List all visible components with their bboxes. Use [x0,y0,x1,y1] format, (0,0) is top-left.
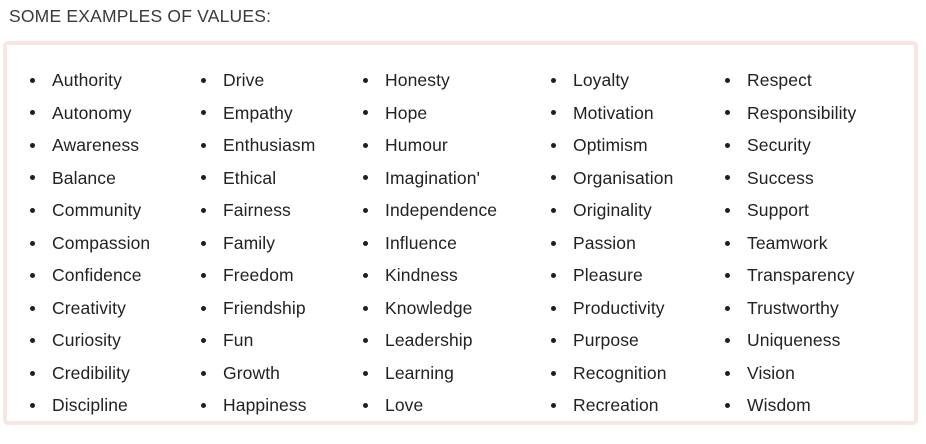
bullet-dot-icon [725,110,730,115]
list-item: Enthusiasm [201,129,363,162]
bullet-dot-icon [201,241,206,246]
list-item: Independence [363,194,551,227]
list-item: Ethical [201,162,363,195]
list-item: Autonomy [30,97,201,130]
list-item: Teamwork [725,227,915,260]
values-list: AuthorityAutonomyAwarenessBalanceCommuni… [30,45,201,422]
list-item: Organisation [551,162,725,195]
bullet-dot-icon [363,306,368,311]
bullet-dot-icon [725,175,730,180]
list-item: Security [725,129,915,162]
list-item-label: Enthusiasm [223,129,315,162]
list-item: Productivity [551,292,725,325]
list-item-label: Passion [573,227,636,260]
bullet-dot-icon [201,175,206,180]
list-item-label: Empathy [223,97,293,130]
list-item-label: Wisdom [747,389,811,422]
list-item: Pleasure [551,259,725,292]
bullet-dot-icon [30,175,35,180]
list-item-label: Knowledge [385,292,473,325]
bullet-dot-icon [201,403,206,408]
list-item: Motivation [551,97,725,130]
list-item: Responsibility [725,97,915,130]
list-item-label: Balance [52,162,116,195]
bullet-dot-icon [725,208,730,213]
list-item: Recreation [551,389,725,422]
list-item-label: Recognition [573,357,667,390]
list-item-label: Confidence [52,259,142,292]
bullet-dot-icon [551,110,556,115]
bullet-dot-icon [30,403,35,408]
bullet-dot-icon [30,110,35,115]
bullet-dot-icon [725,306,730,311]
bullet-dot-icon [551,78,556,83]
values-list: HonestyHopeHumourImagination'Independenc… [363,45,551,422]
list-item-label: Security [747,129,811,162]
bullet-dot-icon [363,403,368,408]
list-item-label: Vision [747,357,795,390]
list-item: Hope [363,97,551,130]
list-item-label: Loyalty [573,64,629,97]
list-item: Curiosity [30,324,201,357]
list-item: Discipline [30,389,201,422]
bullet-dot-icon [30,273,35,278]
list-item-label: Autonomy [52,97,132,130]
list-item-label: Discipline [52,389,128,422]
list-item: Leadership [363,324,551,357]
bullet-dot-icon [551,403,556,408]
list-item-label: Happiness [223,389,307,422]
list-item-label: Motivation [573,97,654,130]
list-item-label: Success [747,162,814,195]
list-item-label: Pleasure [573,259,643,292]
bullet-dot-icon [201,338,206,343]
list-item: Friendship [201,292,363,325]
list-item-label: Ethical [223,162,276,195]
values-box: AuthorityAutonomyAwarenessBalanceCommuni… [3,41,918,425]
list-item: Wisdom [725,389,915,422]
list-item-label: Fairness [223,194,291,227]
list-item-label: Recreation [573,389,659,422]
list-item-label: Credibility [52,357,130,390]
list-item: Humour [363,129,551,162]
bullet-dot-icon [551,338,556,343]
bullet-dot-icon [363,241,368,246]
list-item-label: Compassion [52,227,150,260]
bullet-dot-icon [30,78,35,83]
list-item-label: Curiosity [52,324,121,357]
list-item: Family [201,227,363,260]
list-item: Purpose [551,324,725,357]
bullet-dot-icon [201,371,206,376]
list-item-label: Humour [385,129,448,162]
list-item: Knowledge [363,292,551,325]
list-item-label: Freedom [223,259,294,292]
values-column-1: DriveEmpathyEnthusiasmEthicalFairnessFam… [201,45,363,422]
list-item-label: Kindness [385,259,458,292]
bullet-dot-icon [725,143,730,148]
list-item: Respect [725,64,915,97]
list-item: Optimism [551,129,725,162]
bullet-dot-icon [363,273,368,278]
list-item-label: Honesty [385,64,450,97]
list-item: Happiness [201,389,363,422]
list-item: Imagination' [363,162,551,195]
values-page: SOME EXAMPLES OF VALUES: AuthorityAutono… [0,0,926,444]
list-item: Empathy [201,97,363,130]
list-item-label: Learning [385,357,454,390]
list-item: Influence [363,227,551,260]
bullet-dot-icon [201,78,206,83]
list-item: Trustworthy [725,292,915,325]
values-columns: AuthorityAutonomyAwarenessBalanceCommuni… [7,45,914,421]
bullet-dot-icon [551,241,556,246]
list-item: Freedom [201,259,363,292]
list-item-label: Love [385,389,423,422]
values-column-0: AuthorityAutonomyAwarenessBalanceCommuni… [7,45,201,422]
bullet-dot-icon [551,273,556,278]
bullet-dot-icon [30,338,35,343]
list-item-label: Teamwork [747,227,828,260]
list-item-label: Friendship [223,292,306,325]
values-list: DriveEmpathyEnthusiasmEthicalFairnessFam… [201,45,363,422]
list-item: Balance [30,162,201,195]
bullet-dot-icon [363,338,368,343]
values-list: LoyaltyMotivationOptimismOrganisationOri… [551,45,725,422]
list-item: Drive [201,64,363,97]
list-item-label: Organisation [573,162,673,195]
list-item: Kindness [363,259,551,292]
list-item-label: Imagination' [385,162,480,195]
list-item: Community [30,194,201,227]
list-item-label: Drive [223,64,264,97]
list-item-label: Respect [747,64,812,97]
bullet-dot-icon [363,208,368,213]
bullet-dot-icon [725,78,730,83]
list-item-label: Community [52,194,141,227]
list-item: Support [725,194,915,227]
bullet-dot-icon [551,306,556,311]
list-item-label: Transparency [747,259,855,292]
list-item: Love [363,389,551,422]
list-item: Uniqueness [725,324,915,357]
list-item: Success [725,162,915,195]
list-item-label: Leadership [385,324,473,357]
list-item: Authority [30,64,201,97]
bullet-dot-icon [725,273,730,278]
bullet-dot-icon [363,78,368,83]
list-item-label: Productivity [573,292,665,325]
list-item-label: Creativity [52,292,126,325]
list-item-label: Hope [385,97,427,130]
list-item: Compassion [30,227,201,260]
list-item: Transparency [725,259,915,292]
list-item-label: Optimism [573,129,648,162]
list-item-label: Originality [573,194,652,227]
list-item-label: Fun [223,324,253,357]
list-item-label: Trustworthy [747,292,839,325]
list-item: Passion [551,227,725,260]
list-item: Loyalty [551,64,725,97]
bullet-dot-icon [551,208,556,213]
list-item: Learning [363,357,551,390]
list-item-label: Awareness [52,129,139,162]
list-item-label: Family [223,227,275,260]
list-item-label: Influence [385,227,457,260]
bullet-dot-icon [201,110,206,115]
list-item-label: Independence [385,194,497,227]
list-item: Credibility [30,357,201,390]
bullet-dot-icon [201,208,206,213]
list-item: Honesty [363,64,551,97]
bullet-dot-icon [551,175,556,180]
bullet-dot-icon [725,371,730,376]
values-column-2: HonestyHopeHumourImagination'Independenc… [363,45,551,422]
bullet-dot-icon [30,143,35,148]
list-item: Fairness [201,194,363,227]
bullet-dot-icon [725,241,730,246]
list-item: Recognition [551,357,725,390]
list-item-label: Growth [223,357,280,390]
list-item: Awareness [30,129,201,162]
values-column-4: RespectResponsibilitySecuritySuccessSupp… [725,45,915,422]
bullet-dot-icon [363,110,368,115]
values-list: RespectResponsibilitySecuritySuccessSupp… [725,45,915,422]
bullet-dot-icon [363,143,368,148]
list-item: Growth [201,357,363,390]
list-item: Vision [725,357,915,390]
bullet-dot-icon [201,273,206,278]
bullet-dot-icon [725,403,730,408]
page-title: SOME EXAMPLES OF VALUES: [9,5,271,27]
bullet-dot-icon [30,241,35,246]
list-item-label: Uniqueness [747,324,840,357]
bullet-dot-icon [363,175,368,180]
bullet-dot-icon [30,208,35,213]
list-item: Confidence [30,259,201,292]
list-item-label: Authority [52,64,122,97]
list-item: Fun [201,324,363,357]
list-item-label: Responsibility [747,97,856,130]
bullet-dot-icon [551,143,556,148]
list-item: Originality [551,194,725,227]
list-item: Creativity [30,292,201,325]
bullet-dot-icon [725,338,730,343]
values-column-3: LoyaltyMotivationOptimismOrganisationOri… [551,45,725,422]
list-item-label: Support [747,194,809,227]
bullet-dot-icon [201,143,206,148]
bullet-dot-icon [551,371,556,376]
bullet-dot-icon [363,371,368,376]
bullet-dot-icon [30,306,35,311]
bullet-dot-icon [30,371,35,376]
bullet-dot-icon [201,306,206,311]
list-item-label: Purpose [573,324,639,357]
